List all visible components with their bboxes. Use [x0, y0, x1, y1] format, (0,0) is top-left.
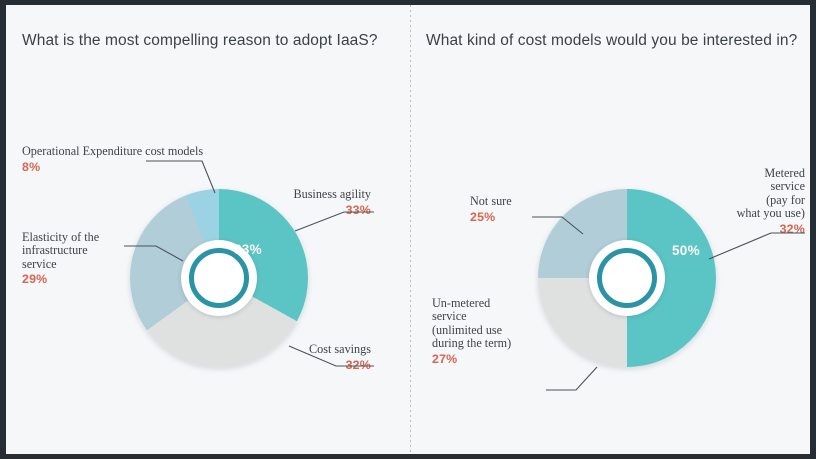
callout-operational-expenditure: Operational Expenditure cost models 8%: [22, 145, 252, 175]
callout-percent: 33%: [256, 202, 371, 218]
screenshot-canvas: What is the most compelling reason to ad…: [0, 0, 816, 459]
callout-metered-service: Metered service (pay for what you use) 3…: [730, 153, 805, 251]
callout-percent: 29%: [22, 271, 132, 287]
donut-ring-left: [189, 248, 249, 308]
callout-not-sure: Not sure 25%: [470, 195, 550, 225]
callout-label-text: Elasticity of the infrastructure service: [22, 230, 99, 271]
callout-percent: 32%: [256, 357, 371, 373]
callout-percent: 32%: [730, 221, 805, 237]
callout-label-text: Business agility: [293, 187, 371, 201]
donut-ring-right: [597, 248, 657, 308]
callout-percent: 8%: [22, 159, 252, 175]
callout-label-text: Operational Expenditure cost models: [22, 144, 203, 158]
callout-label-text: Cost savings: [309, 342, 371, 356]
chart-panel-cost-models: What kind of cost models would you be in…: [410, 5, 810, 454]
chart-sheet: What is the most compelling reason to ad…: [6, 5, 810, 454]
slice-value-business-agility: 33%: [234, 242, 262, 257]
callout-percent: 25%: [470, 209, 550, 225]
callout-label-text: Not sure: [470, 194, 512, 208]
chart-panel-iaas-reason: What is the most compelling reason to ad…: [6, 5, 410, 454]
page-title-right: What kind of cost models would you be in…: [426, 32, 797, 50]
callout-unmetered-service: Un-metered service (unlimited use during…: [432, 283, 542, 381]
donut-chart-cost-models: [538, 189, 716, 367]
callout-business-agility: Business agility 33%: [256, 188, 371, 218]
callout-label-text: Metered service (pay for what you use): [737, 166, 805, 221]
callout-cost-savings: Cost savings 32%: [256, 343, 371, 373]
slice-value-metered-service: 50%: [672, 243, 700, 258]
callout-percent: 27%: [432, 351, 542, 367]
page-title-left: What is the most compelling reason to ad…: [22, 32, 378, 50]
callout-elasticity: Elasticity of the infrastructure service…: [22, 217, 132, 301]
callout-label-text: Un-metered service (unlimited use during…: [432, 296, 511, 351]
